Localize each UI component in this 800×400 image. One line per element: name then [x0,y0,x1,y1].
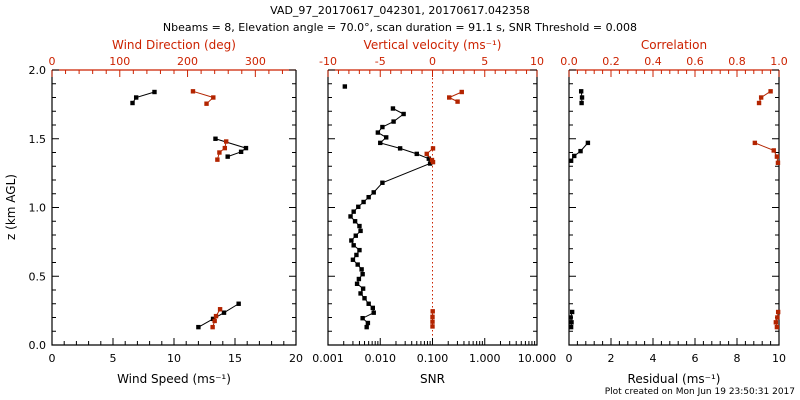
data-point [360,272,364,276]
data-point [244,146,248,150]
data-point [425,152,429,156]
data-point [431,146,435,150]
plot-canvas: VAD_97_20170617_042301, 20170617.042358 … [0,0,800,400]
x-tick-label: 10 [772,352,786,365]
data-point [401,112,405,116]
data-point [569,320,573,324]
data-point [579,89,583,93]
data-point [366,302,370,306]
x-tick-top-label: 100 [109,55,130,68]
data-point [357,224,361,228]
x-axis-label: SNR [420,372,445,386]
x-tick-top-label: 300 [245,55,266,68]
x-axis-label: Wind Speed (ms⁻¹) [117,372,231,386]
x-tick-label: 0.010 [365,352,397,365]
data-point [355,262,359,266]
data-point [348,214,352,218]
data-point [774,320,778,324]
data-point [431,309,435,313]
data-point [447,95,451,99]
data-point [757,101,761,105]
x-axis-top-label: Wind Direction (deg) [112,38,236,52]
data-point [366,321,370,325]
data-point [360,316,364,320]
x-axis-top-label: Vertical velocity (ms⁻¹) [364,38,502,52]
data-point [196,325,200,329]
x-tick-label: 4 [650,352,657,365]
data-point [357,277,361,281]
page-title: VAD_97_20170617_042301, 20170617.042358 [270,4,530,17]
data-point [353,219,357,223]
y-tick-label: 1.5 [29,133,47,146]
x-tick-label: 2 [608,352,615,365]
data-point [579,101,583,105]
data-point [152,90,156,94]
data-point [364,325,368,329]
data-point [358,229,362,233]
data-point [569,325,573,329]
x-tick-label: 5 [110,352,117,365]
data-point [586,141,590,145]
data-point [204,101,208,105]
data-point [380,181,384,185]
data-point [775,154,779,158]
data-point [212,319,216,323]
x-tick-label: 10.000 [518,352,557,365]
data-point [343,84,347,88]
data-point [775,325,779,329]
data-point [391,119,395,123]
data-point [460,90,464,94]
x-tick-label: 10 [167,352,181,365]
data-point [236,302,240,306]
data-point [361,200,365,204]
x-tick-label: 0.001 [312,352,344,365]
data-point [372,310,376,314]
y-tick-label: 2.0 [29,64,47,77]
data-point [568,315,572,319]
data-point [214,314,218,318]
x-tick-top-label: 200 [177,55,198,68]
x-tick-label: 0.100 [417,352,449,365]
data-point [430,319,434,323]
data-point [134,95,138,99]
data-point [384,135,388,139]
data-point [218,307,222,311]
data-point [378,141,382,145]
data-point [225,154,229,158]
x-tick-top-label: 0.6 [686,55,704,68]
x-tick-label: 6 [692,352,699,365]
x-tick-label: 0 [566,352,573,365]
data-point [359,267,363,271]
x-tick-top-label: 0.4 [644,55,662,68]
data-point [366,195,370,199]
data-point [351,243,355,247]
data-point [430,158,434,162]
data-point [191,89,195,93]
x-tick-label: 8 [734,352,741,365]
y-axis-label: z (km AGL) [4,174,18,240]
x-axis-top-label: Correlation [641,38,707,52]
x-axis-label: Residual (ms⁻¹) [628,372,721,386]
data-point [380,125,384,129]
data-point [775,315,779,319]
x-tick-top-label: 10 [530,55,544,68]
plot-created-footer: Plot created on Mon Jun 19 23:50:31 2017 [605,387,795,397]
data-point [371,306,375,310]
x-tick-top-label: 0 [49,55,56,68]
data-point [772,148,776,152]
x-tick-top-label: 0.0 [560,55,578,68]
data-point [776,161,780,165]
data-point [430,315,434,319]
data-point [578,149,582,153]
vad-plot-figure: VAD_97_20170617_042301, 20170617.042358 … [0,0,800,400]
x-tick-label: 20 [289,352,303,365]
data-point [210,325,214,329]
y-tick-label: 0.0 [29,339,47,352]
data-point [372,190,376,194]
data-point [376,130,380,134]
data-point [351,258,355,262]
data-point [759,95,763,99]
data-point [361,286,365,290]
data-point [354,233,358,237]
data-point [354,253,358,257]
y-tick-label: 0.5 [29,270,47,283]
data-point [398,146,402,150]
data-point [213,137,217,141]
data-point [580,95,584,99]
data-point [570,310,574,314]
data-point [430,324,434,328]
data-point [391,106,395,110]
data-point [356,205,360,209]
data-point [215,157,219,161]
x-tick-top-label: 0.2 [602,55,620,68]
plot-subtitle: Nbeams = 8, Elevation angle = 70.0°, sca… [163,21,637,34]
data-point [349,238,353,242]
data-point [358,291,362,295]
data-point [357,248,361,252]
data-point [455,99,459,103]
data-point [569,159,573,163]
data-point [211,95,215,99]
x-tick-label: 0 [49,352,56,365]
y-tick-label: 1.0 [29,202,47,215]
data-point [223,146,227,150]
x-tick-top-label: 0 [429,55,436,68]
x-tick-label: 15 [228,352,242,365]
data-point [753,141,757,145]
data-point [355,282,359,286]
data-point [130,101,134,105]
x-tick-top-label: 1.0 [770,55,788,68]
data-point [768,89,772,93]
x-tick-top-label: 0.8 [728,55,746,68]
x-tick-top-label: -5 [375,55,386,68]
data-point [362,296,366,300]
data-point [572,154,576,158]
data-point [415,152,419,156]
x-tick-top-label: 5 [481,55,488,68]
data-point [239,150,243,154]
data-point [222,310,226,314]
x-tick-top-label: -10 [319,55,337,68]
data-point [217,150,221,154]
data-point [224,139,228,143]
x-tick-label: 1.000 [469,352,501,365]
data-point [776,310,780,314]
data-point [351,209,355,213]
